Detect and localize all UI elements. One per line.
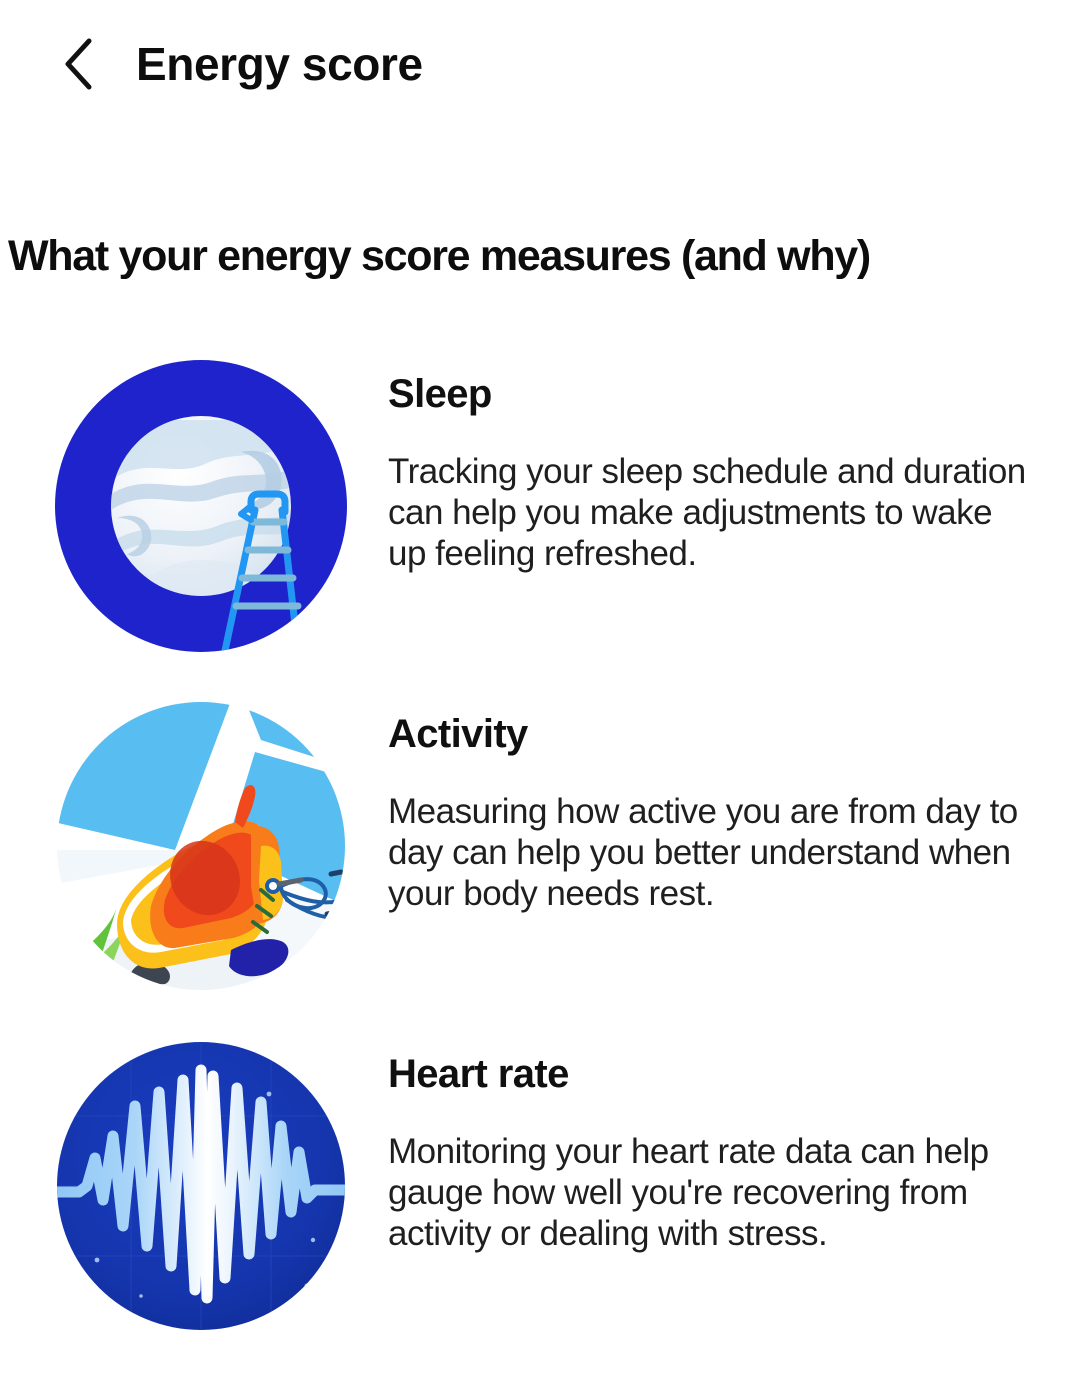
feature-title: Sleep	[388, 372, 1038, 416]
page-title: Energy score	[136, 41, 423, 87]
feature-title: Activity	[388, 712, 1038, 756]
chevron-left-icon	[59, 37, 99, 91]
feature-description: Monitoring your heart rate data can help…	[388, 1132, 1038, 1255]
back-button[interactable]	[36, 21, 122, 107]
sleep-moon-ladder-icon	[55, 360, 347, 652]
feature-text: Sleep Tracking your sleep schedule and d…	[388, 372, 1038, 575]
app-header: Energy score	[0, 0, 1080, 128]
heart-rate-waveform-icon	[55, 1040, 347, 1332]
feature-description: Tracking your sleep schedule and duratio…	[388, 452, 1038, 575]
feature-title: Heart rate	[388, 1052, 1038, 1096]
activity-running-shoe-icon	[55, 700, 347, 992]
feature-text: Activity Measuring how active you are fr…	[388, 712, 1038, 915]
feature-description: Measuring how active you are from day to…	[388, 792, 1038, 915]
section-heading: What your energy score measures (and why…	[8, 232, 1080, 281]
feature-row: Sleep Tracking your sleep schedule and d…	[0, 360, 1080, 700]
feature-text: Heart rate Monitoring your heart rate da…	[388, 1052, 1038, 1255]
feature-row: Heart rate Monitoring your heart rate da…	[0, 1040, 1080, 1380]
feature-row: Activity Measuring how active you are fr…	[0, 700, 1080, 1040]
feature-list: Sleep Tracking your sleep schedule and d…	[0, 360, 1080, 1380]
